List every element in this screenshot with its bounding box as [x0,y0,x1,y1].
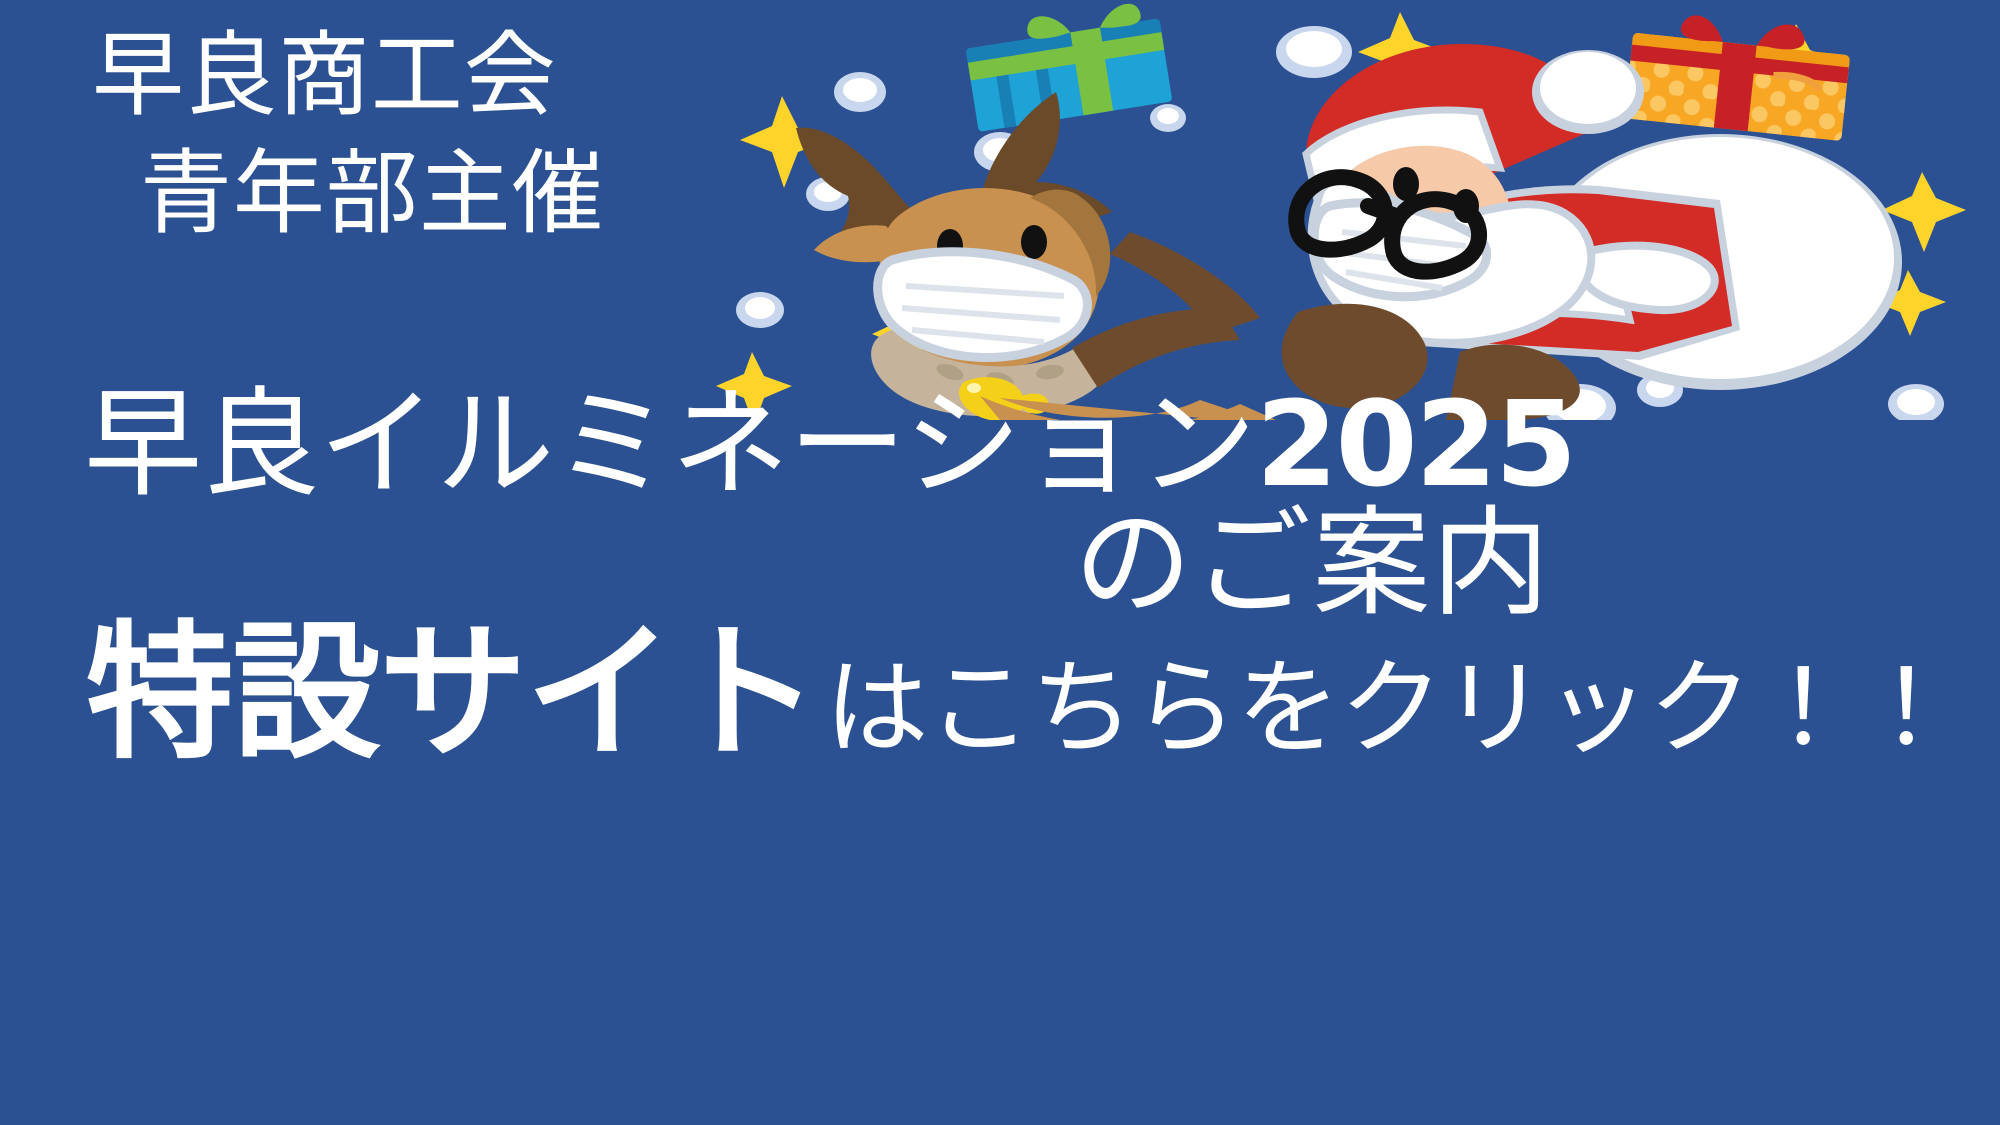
illumination-banner[interactable]: 早良商工会 青年部主催 早良イルミネーション2025 のご案内 特設サイト はこ… [0,0,2000,1125]
event-title-name: 早良イルミネーション [84,379,1256,511]
cta-rest-label[interactable]: はこちらをクリック！！ [819,657,1958,761]
event-title-suffix: のご案内 [1074,505,1551,623]
snowflakes [736,26,1944,420]
reindeer [796,92,1276,420]
stars [716,12,1966,420]
masked-santa-and-reindeer-illustration [700,0,2000,420]
gift-box-orange [1624,8,1852,141]
gift-box-blue [962,0,1172,132]
event-title: 早良イルミネーション2025 [84,385,1575,504]
santa-sack [1538,134,1902,390]
organizer-line-2: 青年部主催 [140,148,605,240]
cta-strong-label[interactable]: 特設サイト [86,620,819,768]
organizer-line-1: 早良商工会 [92,30,557,122]
cta-link[interactable]: 特設サイト はこちらをクリック！！ [86,620,1957,768]
santa [1296,44,1740,360]
event-title-year: 2025 [1256,375,1575,513]
